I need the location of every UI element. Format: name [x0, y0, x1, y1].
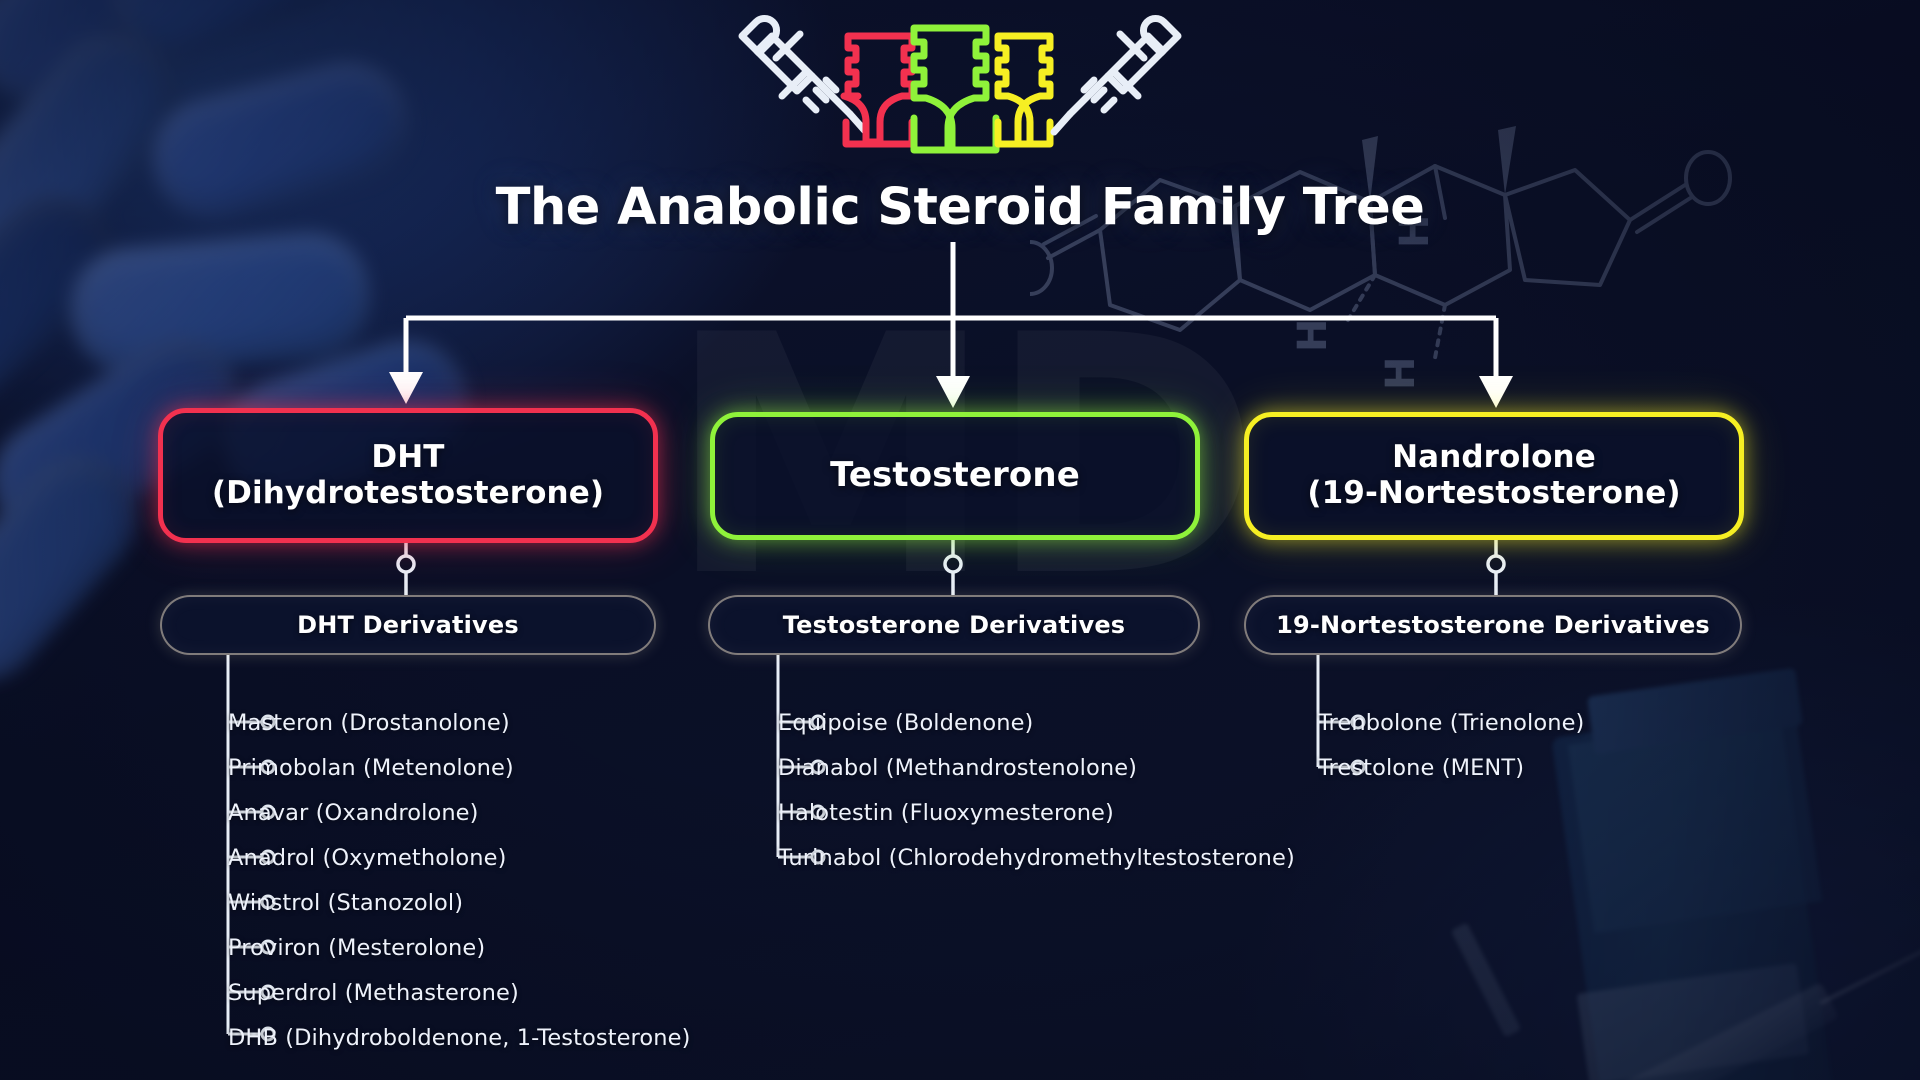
list-item-label: Dianabol (Methandrostenolone) — [778, 755, 1137, 781]
category-label-testosterone: Testosterone — [830, 456, 1080, 495]
list-item[interactable]: DHB (Dihydroboldenone, 1-Testosterone) — [228, 1015, 690, 1060]
list-item-label: Primobolan (Metenolone) — [228, 755, 514, 781]
list-item-label: Trestolone (MENT) — [1318, 755, 1524, 781]
list-item[interactable]: Anadrol (Oxymetholone) — [228, 835, 690, 880]
item-list-nandrolone: Trenbolone (Trienolone) Trestolone (MENT… — [1318, 700, 1584, 790]
derivatives-bar-dht[interactable]: DHT Derivatives — [160, 595, 656, 655]
list-item[interactable]: Anavar (Oxandrolone) — [228, 790, 690, 835]
category-label-dht: DHT (Dihydrotestosterone) — [212, 440, 604, 512]
list-item[interactable]: Proviron (Mesterolone) — [228, 925, 690, 970]
item-list-dht: Masteron (Drostanolone) Primobolan (Mete… — [228, 700, 690, 1060]
list-item[interactable]: Halotestin (Fluoxymesterone) — [778, 790, 1295, 835]
vial-green-icon — [914, 28, 996, 150]
list-item[interactable]: Winstrol (Stanozolol) — [228, 880, 690, 925]
list-item-label: Equipoise (Boldenone) — [778, 710, 1033, 736]
category-box-nandrolone[interactable]: Nandrolone (19-Nortestosterone) — [1244, 412, 1744, 540]
vial-yellow-icon — [998, 36, 1050, 144]
list-item[interactable]: Turinabol (Chlorodehydromethyltestostero… — [778, 835, 1295, 880]
category-box-testosterone[interactable]: Testosterone — [710, 412, 1200, 540]
derivatives-label-testosterone: Testosterone Derivatives — [783, 611, 1126, 639]
syringe-right-icon — [1054, 18, 1178, 132]
list-item[interactable]: Trestolone (MENT) — [1318, 745, 1584, 790]
derivatives-label-nandrolone: 19-Nortestosterone Derivatives — [1276, 611, 1710, 639]
list-item-label: Anavar (Oxandrolone) — [228, 800, 479, 826]
list-item[interactable]: Superdrol (Methasterone) — [228, 970, 690, 1015]
list-item-label: Trenbolone (Trienolone) — [1318, 710, 1584, 736]
list-item-label: Anadrol (Oxymetholone) — [228, 845, 506, 871]
list-item[interactable]: Dianabol (Methandrostenolone) — [778, 745, 1295, 790]
list-item-label: Masteron (Drostanolone) — [228, 710, 510, 736]
category-label-nandrolone: Nandrolone (19-Nortestosterone) — [1307, 440, 1680, 512]
derivatives-bar-testosterone[interactable]: Testosterone Derivatives — [708, 595, 1200, 655]
list-item-label: Superdrol (Methasterone) — [228, 980, 519, 1006]
list-item-label: Halotestin (Fluoxymesterone) — [778, 800, 1114, 826]
derivatives-bar-nandrolone[interactable]: 19-Nortestosterone Derivatives — [1244, 595, 1742, 655]
item-list-testosterone: Equipoise (Boldenone) Dianabol (Methandr… — [778, 700, 1295, 880]
list-item[interactable]: Trenbolone (Trienolone) — [1318, 700, 1584, 745]
list-item-label: DHB (Dihydroboldenone, 1-Testosterone) — [228, 1025, 690, 1051]
list-item-label: Proviron (Mesterolone) — [228, 935, 485, 961]
list-item-label: Turinabol (Chlorodehydromethyltestostero… — [778, 845, 1295, 871]
category-box-dht[interactable]: DHT (Dihydrotestosterone) — [158, 408, 658, 543]
list-item[interactable]: Masteron (Drostanolone) — [228, 700, 690, 745]
derivatives-label-dht: DHT Derivatives — [297, 611, 519, 639]
list-item[interactable]: Equipoise (Boldenone) — [778, 700, 1295, 745]
list-item-label: Winstrol (Stanozolol) — [228, 890, 463, 916]
syringes-and-vials-logo — [720, 14, 1200, 154]
page-title: The Anabolic Steroid Family Tree — [0, 178, 1920, 237]
list-item[interactable]: Primobolan (Metenolone) — [228, 745, 690, 790]
vial-red-icon — [844, 36, 912, 144]
